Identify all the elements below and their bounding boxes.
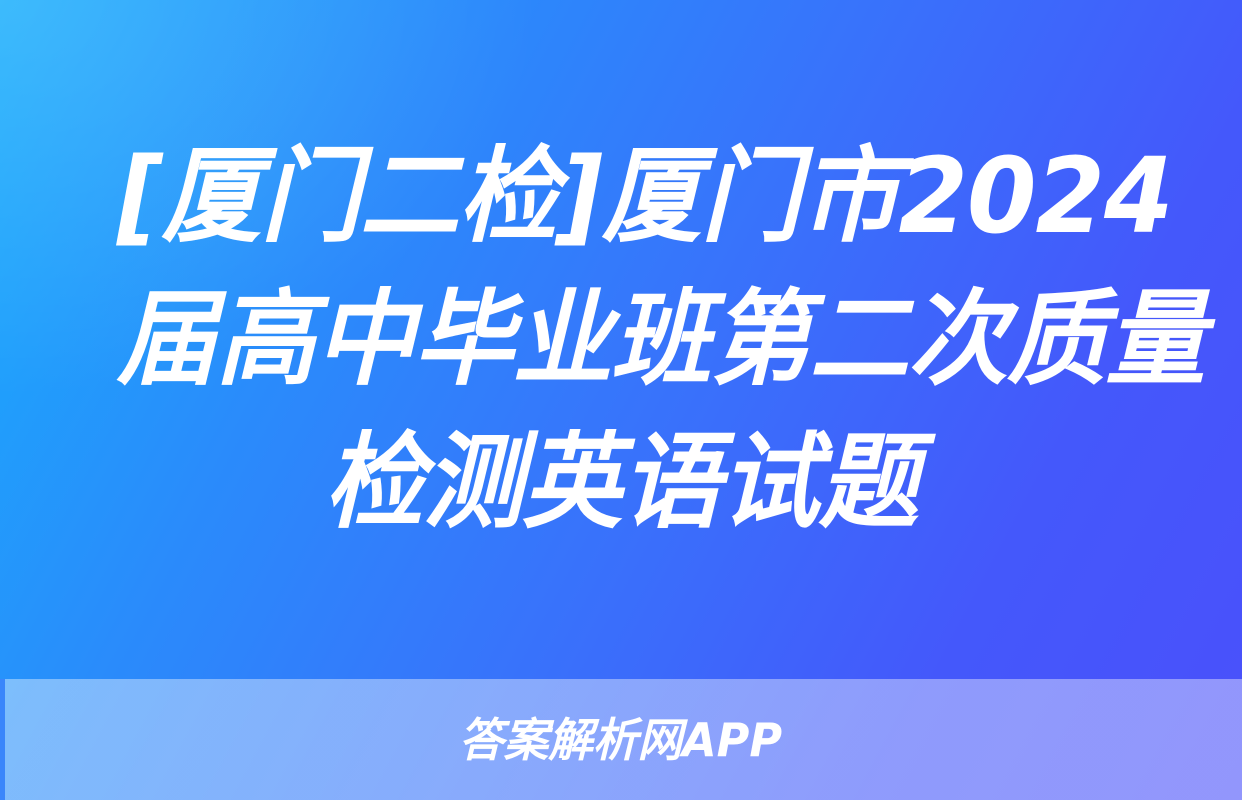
watermark-brand-label: 答案解析网APP (459, 717, 782, 763)
watermark-bar-left-edge (0, 679, 5, 800)
title-block: [厦门二检]厦门市2024 届高中毕业班第二次质量 检测英语试题 (0, 0, 1242, 678)
title-line-1: [厦门二检]厦门市2024 (117, 125, 1125, 268)
exam-title-card: [厦门二检]厦门市2024 届高中毕业班第二次质量 检测英语试题 答案解析网AP… (0, 0, 1242, 800)
title-line-2: 届高中毕业班第二次质量 (117, 268, 1125, 411)
watermark-bar: 答案解析网APP (0, 679, 1242, 800)
title-line-3: 检测英语试题 (117, 411, 1125, 554)
